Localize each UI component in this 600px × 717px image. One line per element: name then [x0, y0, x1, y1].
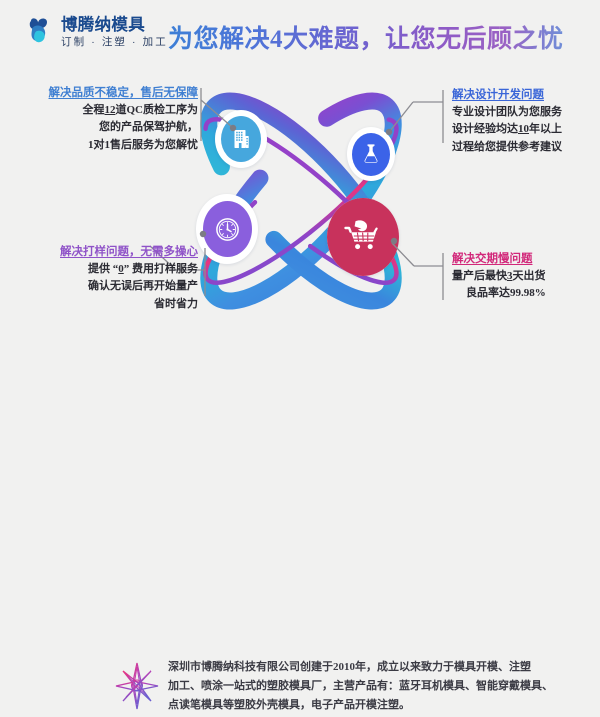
- clock-icon: [215, 217, 240, 242]
- page-title: 为您解决4大难题，让您无后顾之忧: [168, 19, 564, 55]
- badge-quality-disc: [221, 116, 261, 162]
- brand-logo[interactable]: 博腾纳模具 订制 · 注塑 · 加工: [28, 17, 168, 47]
- logo-name: 博腾纳模具: [61, 17, 168, 34]
- block-design-body: 专业设计团队为您服务 设计经验均达10年以上 过程给您提供参考建议: [452, 104, 594, 157]
- footer: 深圳市博腾纳科技有限公司创建于2010年，成立以来致力于模具开模、注塑 加工、喷…: [0, 326, 600, 400]
- block-design: 解决设计开发问题 专业设计团队为您服务 设计经验均达10年以上 过程给您提供参考…: [452, 88, 594, 157]
- block-lead-time-line-2: 良品率达99.98%: [452, 285, 596, 303]
- badge-sample[interactable]: [196, 194, 258, 264]
- block-quality: 解决品质不稳定，售后无保障 全程12道QC质检工序为 您的产品保驾护航， 1对1…: [30, 86, 198, 155]
- logo-subtitle: 订制 · 注塑 · 加工: [61, 37, 168, 48]
- block-sample: 解决打样问题，无需多操心 提供 “0” 费用打样服务 确认无误后再开始量产 省时…: [18, 245, 198, 314]
- block-lead-time-title: 解决交期慢问题: [452, 252, 596, 268]
- eight-point-star-icon: [112, 660, 162, 712]
- block-design-line-2: 设计经验均达10年以上: [452, 121, 594, 139]
- badge-lead-time-disc: [327, 198, 399, 276]
- block-lead-time-body: 量产后最快3天出货 良品率达99.98%: [452, 268, 596, 304]
- badge-lead-time[interactable]: [327, 198, 399, 276]
- block-design-line-3: 过程给您提供参考建议: [452, 139, 594, 157]
- footer-line-3: 点读笔模具等塑胶外壳模具，电子产品开模注塑。: [168, 696, 584, 715]
- block-quality-line-2: 您的产品保驾护航，: [30, 119, 198, 137]
- footer-line-2: 加工、喷涂一站式的塑胶模具厂，主营产品有：蓝牙耳机模具、智能穿戴模具、: [168, 677, 584, 696]
- block-sample-line-2: 确认无误后再开始量产: [18, 278, 198, 296]
- badge-quality[interactable]: [215, 110, 267, 168]
- block-sample-body: 提供 “0” 费用打样服务 确认无误后再开始量产 省时省力: [18, 261, 198, 314]
- badge-design-disc: [352, 133, 390, 176]
- block-quality-title: 解决品质不稳定，售后无保障: [30, 86, 198, 102]
- block-sample-title: 解决打样问题，无需多操心: [18, 245, 198, 261]
- droplet-cluster-logo-icon: [28, 17, 56, 47]
- poster-canvas: 博腾纳模具 订制 · 注塑 · 加工 为您解决4大难题，让您无后顾之忧: [0, 0, 600, 400]
- block-quality-body: 全程12道QC质检工序为 您的产品保驾护航， 1对1售后服务为您解忧: [30, 102, 198, 155]
- header: 博腾纳模具 订制 · 注塑 · 加工 为您解决4大难题，让您无后顾之忧: [0, 0, 600, 68]
- shopping-cart-icon: [343, 219, 383, 255]
- block-sample-line-3: 省时省力: [18, 296, 198, 314]
- badge-sample-disc: [203, 201, 252, 257]
- badge-design[interactable]: [347, 127, 395, 181]
- factory-building-icon: [233, 129, 250, 150]
- block-lead-time: 解决交期慢问题 量产后最快3天出货 良品率达99.98%: [452, 252, 596, 303]
- footer-company-description: 深圳市博腾纳科技有限公司创建于2010年，成立以来致力于模具开模、注塑 加工、喷…: [168, 658, 584, 715]
- block-lead-time-line-1: 量产后最快3天出货: [452, 268, 596, 286]
- block-sample-line-1: 提供 “0” 费用打样服务: [18, 261, 198, 279]
- block-design-line-1: 专业设计团队为您服务: [452, 104, 594, 122]
- block-design-title: 解决设计开发问题: [452, 88, 594, 104]
- block-quality-line-3: 1对1售后服务为您解忧: [30, 137, 198, 155]
- flask-icon: [362, 144, 380, 165]
- footer-line-1: 深圳市博腾纳科技有限公司创建于2010年，成立以来致力于模具开模、注塑: [168, 658, 584, 677]
- block-quality-line-1: 全程12道QC质检工序为: [30, 102, 198, 120]
